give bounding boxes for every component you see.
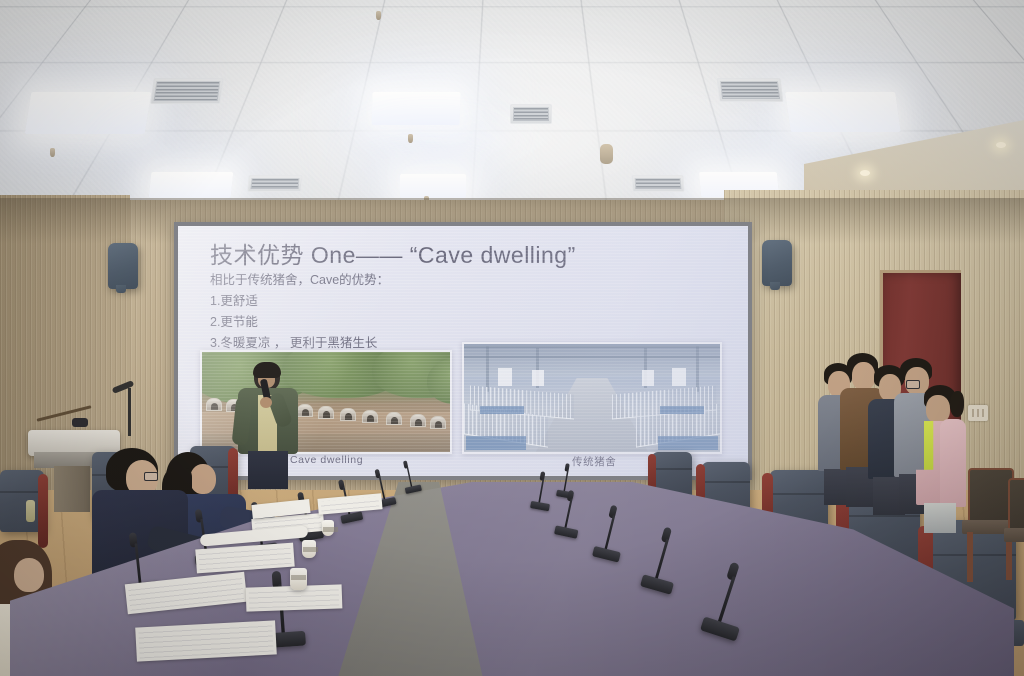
- wall-speaker-left: [108, 243, 138, 289]
- hvac-vent: [247, 175, 302, 192]
- cave-entrance: [340, 408, 356, 421]
- paper-cup: [290, 568, 307, 590]
- barn-window: [532, 370, 544, 386]
- barn-floor-blue: [660, 406, 704, 414]
- student-ponytail: [950, 391, 964, 417]
- hvac-vent: [631, 175, 684, 192]
- side-chair-seat: [1004, 528, 1024, 542]
- barn-window: [498, 368, 512, 386]
- barn-floor-blue: [658, 436, 718, 450]
- barn-window: [642, 370, 654, 386]
- presenter-hand: [260, 397, 272, 408]
- smoke-detector: [600, 144, 613, 164]
- side-chair-backrest: [1008, 478, 1024, 532]
- recessed-downlight: [996, 142, 1006, 148]
- barn-floor-blue: [480, 406, 524, 414]
- barn-floor-blue: [466, 436, 526, 450]
- ceiling-panel-light: [25, 92, 152, 134]
- document-text-lines: [321, 496, 380, 511]
- slide-intro-line: 相比于传统猪舍，Cave的优势：: [210, 270, 389, 291]
- cave-entrance: [410, 414, 426, 427]
- conference-room-photo: 技术优势 One—— “Cave dwelling” 相比于传统猪舍，Cave的…: [0, 0, 1024, 676]
- ceiling-panel-light: [785, 92, 901, 132]
- document-text-lines: [138, 624, 273, 659]
- barn-window: [672, 368, 686, 386]
- ceiling: [0, 0, 1024, 215]
- slide-image-pig-barn: [462, 342, 722, 454]
- ceiling-panel-light: [400, 174, 466, 198]
- slide-caption-right: 传统猪舍: [572, 454, 616, 469]
- barn-column: [696, 346, 699, 392]
- recessed-downlight: [860, 170, 870, 176]
- attendee-head: [14, 558, 44, 592]
- paper-cup: [322, 520, 334, 536]
- cave-entrance: [206, 398, 222, 411]
- ceiling-panel-light: [371, 92, 460, 125]
- side-chair[interactable]: [1004, 478, 1024, 588]
- beverage-bottle: [26, 500, 35, 522]
- document-text-lines: [249, 587, 340, 608]
- hvac-vent: [150, 78, 224, 104]
- hvac-vent: [510, 104, 552, 124]
- podium-mic-head: [72, 418, 88, 427]
- hvac-vent: [717, 78, 784, 102]
- cave-entrance: [362, 410, 378, 423]
- side-chair-leg: [967, 532, 973, 582]
- barn-column: [486, 346, 489, 392]
- student-hoodie-right: [940, 419, 966, 507]
- floor-lamp-stem: [128, 388, 131, 436]
- attendee-glasses: [144, 472, 158, 481]
- standing-student: [916, 385, 968, 530]
- slide-bullet-1: 1.更舒适: [210, 291, 389, 312]
- barn-beam: [464, 356, 720, 358]
- slide-body-text: 相比于传统猪舍，Cave的优势： 1.更舒适 2.更节能 3.冬暖夏凉 ， 更利…: [210, 270, 389, 354]
- paper-cup: [302, 540, 316, 558]
- wall-outlet: [968, 405, 988, 421]
- student-trousers: [924, 503, 956, 533]
- sprinkler-head: [408, 134, 413, 143]
- sprinkler-head: [50, 148, 55, 157]
- slide-bullet-2: 2.更节能: [210, 312, 389, 333]
- slide-title: 技术优势 One—— “Cave dwelling”: [210, 236, 576, 270]
- document-text-lines: [198, 546, 291, 570]
- presenter-hair: [253, 362, 281, 378]
- cave-entrance: [430, 416, 446, 429]
- chair-frame: [38, 474, 48, 548]
- wall-speaker-right: [762, 240, 792, 286]
- sprinkler-head: [376, 11, 381, 20]
- ceiling-panel-light: [149, 172, 234, 198]
- barn-beam: [464, 346, 720, 348]
- cave-entrance: [386, 412, 402, 425]
- cave-entrance: [318, 406, 334, 419]
